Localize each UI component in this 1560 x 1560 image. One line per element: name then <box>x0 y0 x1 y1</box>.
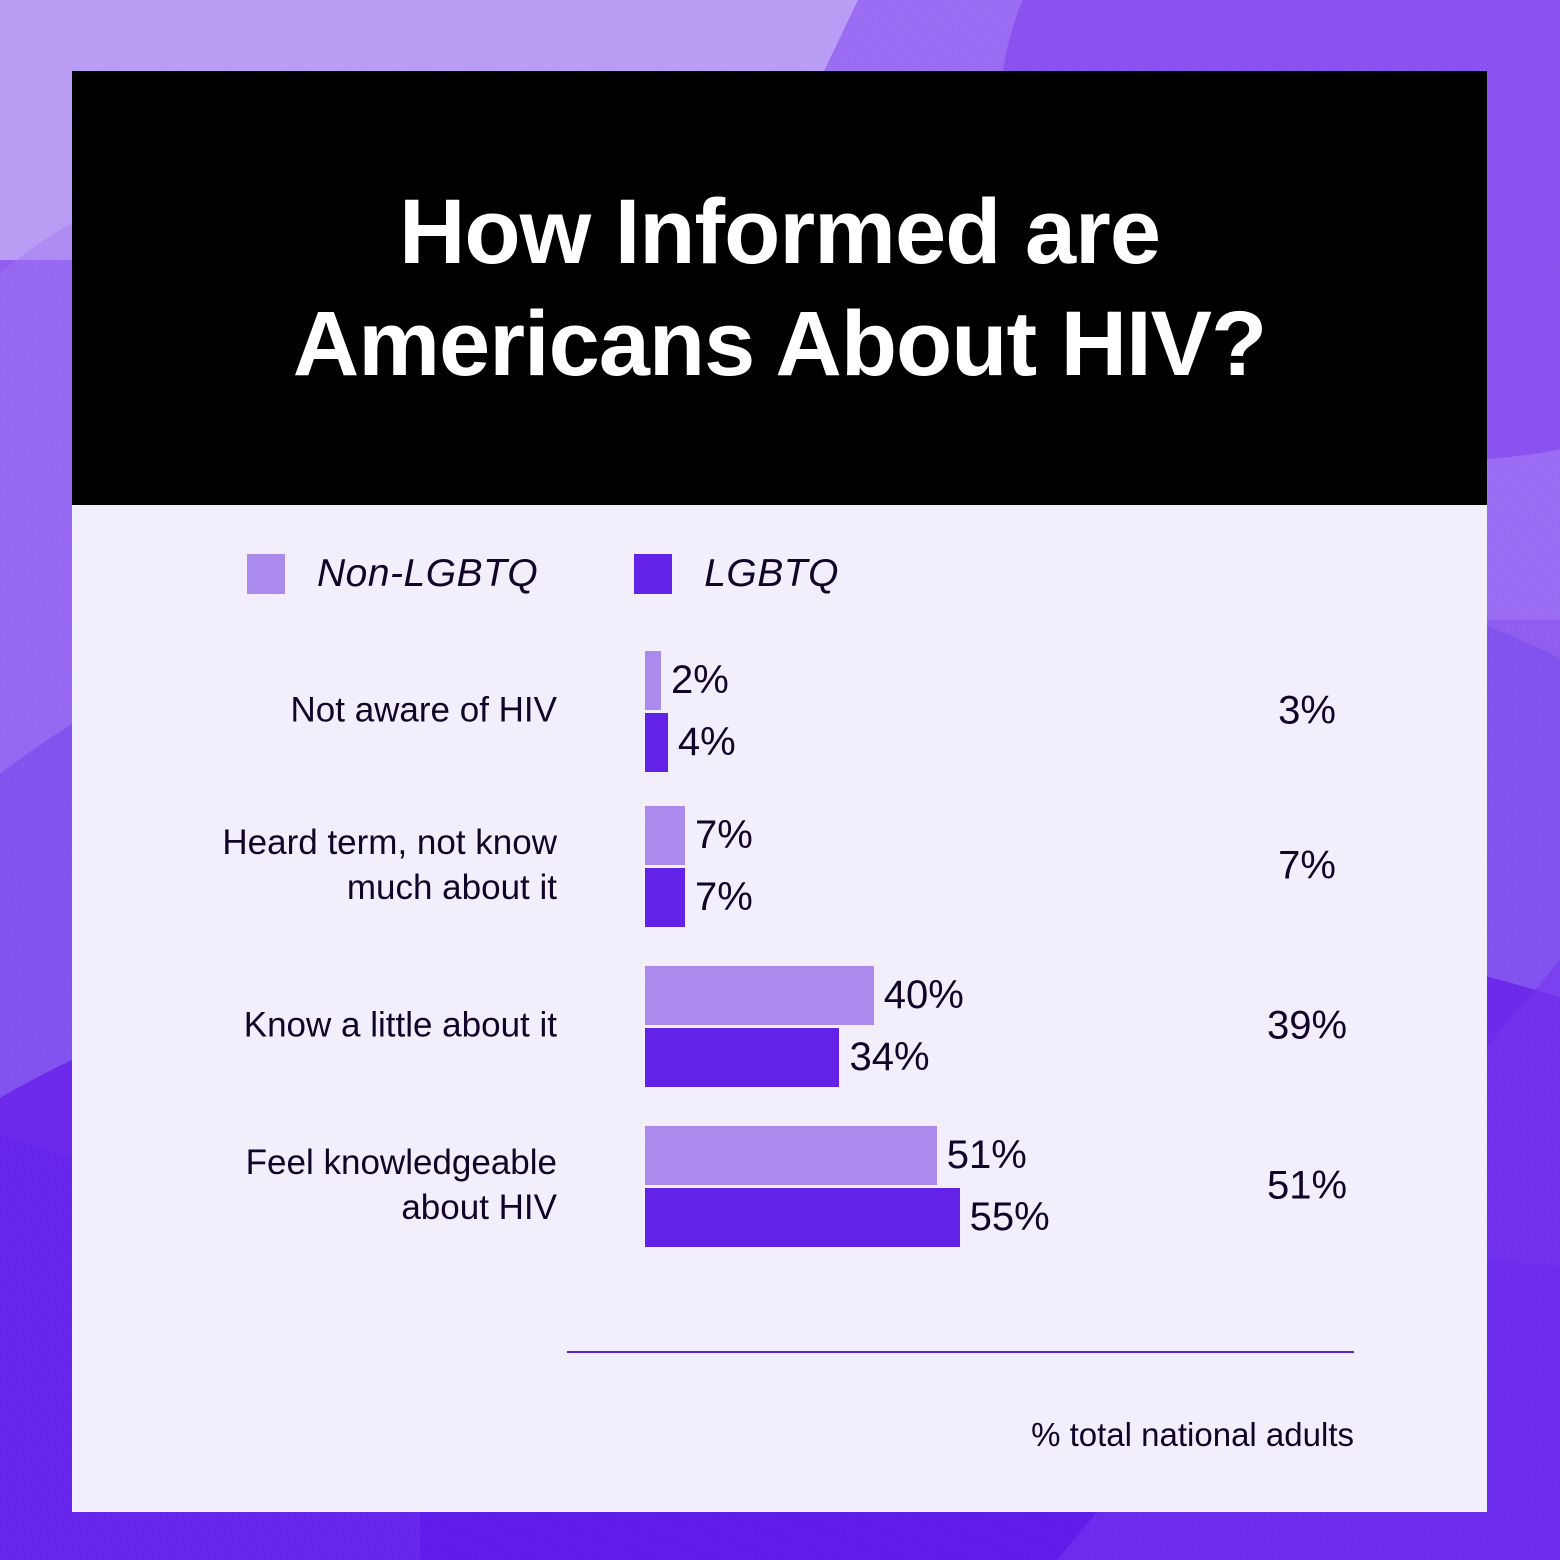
bar-lgbtq[interactable] <box>645 1028 839 1087</box>
row-total-value: 51% <box>1217 1164 1397 1209</box>
legend-label-lgbtq: LGBTQ <box>704 552 839 596</box>
bar-non-lgbtq[interactable] <box>645 1126 937 1185</box>
legend-item-non-lgbtq[interactable]: Non-LGBTQ <box>247 552 538 596</box>
bar-value-non-lgbtq: 2% <box>671 658 729 703</box>
row-total-value: 39% <box>1217 1004 1397 1049</box>
bar-value-lgbtq: 55% <box>970 1195 1050 1240</box>
page-title: How Informed are Americans About HIV? <box>293 176 1266 400</box>
row-total-value: 3% <box>1217 689 1397 734</box>
legend-swatch-non-lgbtq <box>247 554 285 594</box>
chart-legend: Non-LGBTQ LGBTQ <box>247 552 935 596</box>
bar-value-non-lgbtq: 51% <box>947 1133 1027 1178</box>
bar-non-lgbtq[interactable] <box>645 966 874 1025</box>
legend-swatch-lgbtq <box>634 554 672 594</box>
legend-label-non-lgbtq: Non-LGBTQ <box>317 552 538 596</box>
row-category-label: Not aware of HIV <box>172 689 557 734</box>
bar-lgbtq[interactable] <box>645 868 685 927</box>
bar-value-non-lgbtq: 40% <box>884 973 964 1018</box>
row-total-value: 7% <box>1217 844 1397 889</box>
footer-divider <box>567 1351 1354 1353</box>
bar-value-lgbtq: 7% <box>695 875 753 920</box>
chart-body: Non-LGBTQ LGBTQ Not aware of HIV 2% 4% 3… <box>72 505 1487 1512</box>
chart-row: Heard term, not know much about it 7% 7%… <box>72 791 1487 941</box>
bar-lgbtq[interactable] <box>645 713 668 772</box>
row-category-label: Feel knowledgeable about HIV <box>172 1141 557 1231</box>
legend-item-lgbtq[interactable]: LGBTQ <box>634 552 839 596</box>
infographic-card: How Informed are Americans About HIV? No… <box>72 71 1487 1512</box>
bar-value-lgbtq: 34% <box>849 1035 929 1080</box>
chart-row: Feel knowledgeable about HIV 51% 55% 51% <box>72 1111 1487 1261</box>
bar-value-non-lgbtq: 7% <box>695 813 753 858</box>
card-header: How Informed are Americans About HIV? <box>72 71 1487 505</box>
bar-non-lgbtq[interactable] <box>645 651 661 710</box>
row-category-label: Know a little about it <box>172 1004 557 1049</box>
chart-row: Not aware of HIV 2% 4% 3% <box>72 636 1487 786</box>
bar-lgbtq[interactable] <box>645 1188 960 1247</box>
bar-value-lgbtq: 4% <box>678 720 736 765</box>
footer-note: % total national adults <box>1031 1416 1354 1454</box>
row-category-label: Heard term, not know much about it <box>172 821 557 911</box>
chart-row: Know a little about it 40% 34% 39% <box>72 951 1487 1101</box>
bar-non-lgbtq[interactable] <box>645 806 685 865</box>
